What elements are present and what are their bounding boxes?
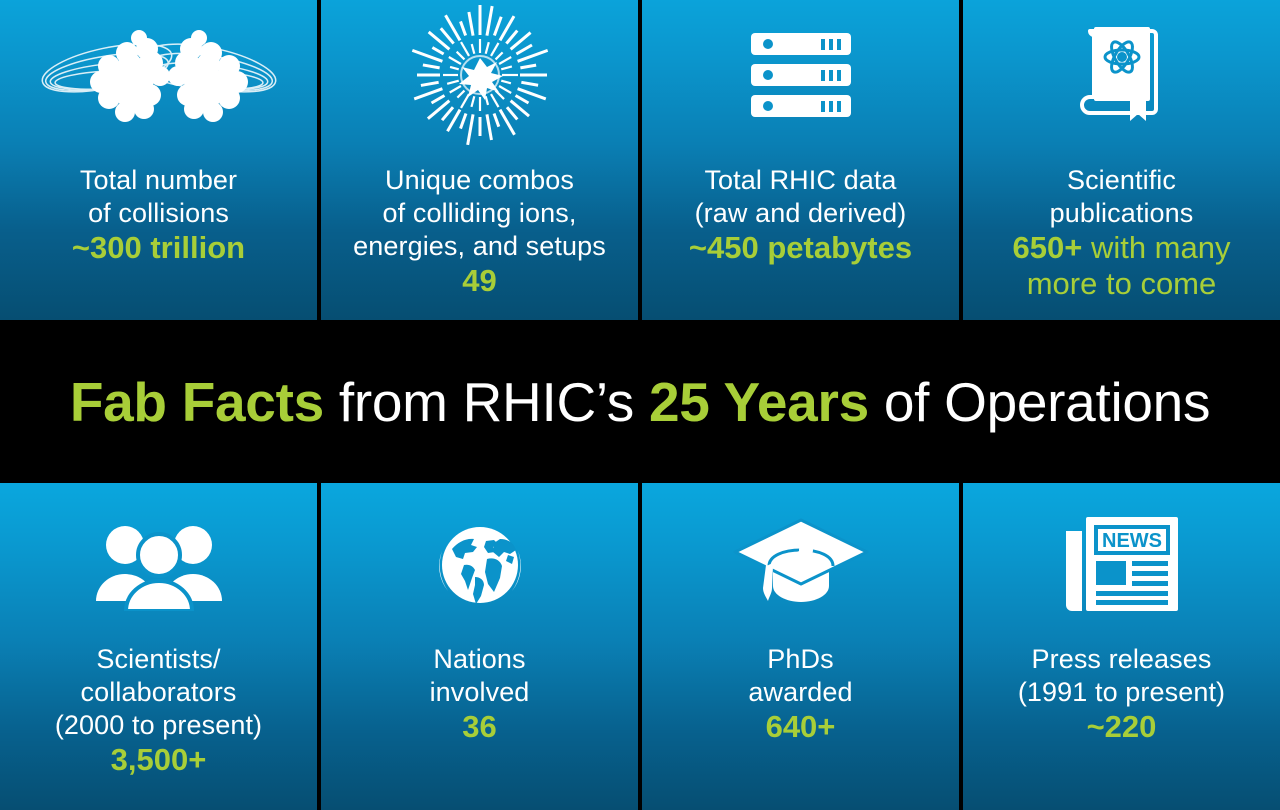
- panel-stat: 49: [321, 263, 638, 299]
- caption-line: Unique combos: [327, 164, 632, 197]
- panel-stat: ~450 petabytes: [642, 230, 959, 266]
- server-rack-icon: [642, 0, 959, 150]
- stat-value: 36: [327, 709, 632, 745]
- graduation-cap-icon: [642, 483, 959, 633]
- caption-line: (1991 to present): [969, 676, 1274, 709]
- caption-line: (2000 to present): [6, 709, 311, 742]
- bottom-stats-row: Scientists/ collaborators (2000 to prese…: [0, 483, 1280, 810]
- stat-panel-phds: PhDs awarded 640+: [642, 483, 959, 810]
- panel-stat: 3,500+: [0, 742, 317, 778]
- caption-line: of colliding ions,: [327, 197, 632, 230]
- page-title: Fab Facts from RHIC’s 25 Years of Operat…: [70, 372, 1210, 432]
- caption-line: Scientists/: [6, 643, 311, 676]
- stat-panel-collisions: Total number of collisions ~300 trillion: [0, 0, 317, 320]
- caption-line: (raw and derived): [648, 197, 953, 230]
- caption-line: Scientific: [969, 164, 1274, 197]
- caption-line: Nations: [327, 643, 632, 676]
- newspaper-masthead-text: NEWS: [1102, 530, 1162, 552]
- caption-line: Total number: [6, 164, 311, 197]
- title-highlight-fab-facts: Fab Facts: [70, 371, 324, 433]
- stat-panel-scientists: Scientists/ collaborators (2000 to prese…: [0, 483, 317, 810]
- particle-burst-icon: [321, 0, 638, 150]
- caption-line: collaborators: [6, 676, 311, 709]
- stat-suffix: more to come: [969, 266, 1274, 302]
- atom-book-icon: [963, 0, 1280, 150]
- panel-stat: 640+: [642, 709, 959, 745]
- title-banner: Fab Facts from RHIC’s 25 Years of Operat…: [0, 320, 1280, 483]
- panel-caption: Nations involved: [321, 643, 638, 709]
- caption-line: energies, and setups: [327, 230, 632, 263]
- stat-value: 640+: [648, 709, 953, 745]
- stat-panel-publications: Scientific publications 650+ with many m…: [963, 0, 1280, 320]
- panel-caption: Scientists/ collaborators (2000 to prese…: [0, 643, 317, 742]
- top-stats-row: Total number of collisions ~300 trillion: [0, 0, 1280, 320]
- caption-line: Press releases: [969, 643, 1274, 676]
- colliding-nuclei-icon: [0, 0, 317, 150]
- infographic-root: Total number of collisions ~300 trillion: [0, 0, 1280, 810]
- stat-value: 3,500+: [6, 742, 311, 778]
- panel-caption: Unique combos of colliding ions, energie…: [321, 164, 638, 263]
- caption-line: publications: [969, 197, 1274, 230]
- stat-value: 650+: [1013, 230, 1083, 265]
- stat-panel-rhic-data: Total RHIC data (raw and derived) ~450 p…: [642, 0, 959, 320]
- caption-line: PhDs: [648, 643, 953, 676]
- panel-caption: PhDs awarded: [642, 643, 959, 709]
- stat-panel-press-releases: NEWS Press releases (1991 to present) ~: [963, 483, 1280, 810]
- panel-caption: Total number of collisions: [0, 164, 317, 230]
- caption-line: awarded: [648, 676, 953, 709]
- stat-panel-nations: Nations involved 36: [321, 483, 638, 810]
- globe-icon: [321, 483, 638, 633]
- title-text-of-operations: of Operations: [869, 371, 1210, 433]
- newspaper-icon: NEWS: [963, 483, 1280, 633]
- stat-value: ~450 petabytes: [648, 230, 953, 266]
- people-group-icon: [0, 483, 317, 633]
- panel-stat: 36: [321, 709, 638, 745]
- panel-caption: Total RHIC data (raw and derived): [642, 164, 959, 230]
- stat-value: ~220: [969, 709, 1274, 745]
- panel-caption: Scientific publications: [963, 164, 1280, 230]
- stat-suffix: with many: [1082, 230, 1230, 265]
- caption-line: of collisions: [6, 197, 311, 230]
- stat-value: ~300 trillion: [6, 230, 311, 266]
- title-highlight-25-years: 25 Years: [649, 371, 869, 433]
- stat-panel-unique-combos: Unique combos of colliding ions, energie…: [321, 0, 638, 320]
- stat-line: 650+ with many: [969, 230, 1274, 266]
- stat-value: 49: [327, 263, 632, 299]
- panel-caption: Press releases (1991 to present): [963, 643, 1280, 709]
- caption-line: Total RHIC data: [648, 164, 953, 197]
- panel-stat: ~300 trillion: [0, 230, 317, 266]
- caption-line: involved: [327, 676, 632, 709]
- title-text-from-rhic: from RHIC’s: [324, 371, 649, 433]
- panel-stat: ~220: [963, 709, 1280, 745]
- panel-stat: 650+ with many more to come: [963, 230, 1280, 302]
